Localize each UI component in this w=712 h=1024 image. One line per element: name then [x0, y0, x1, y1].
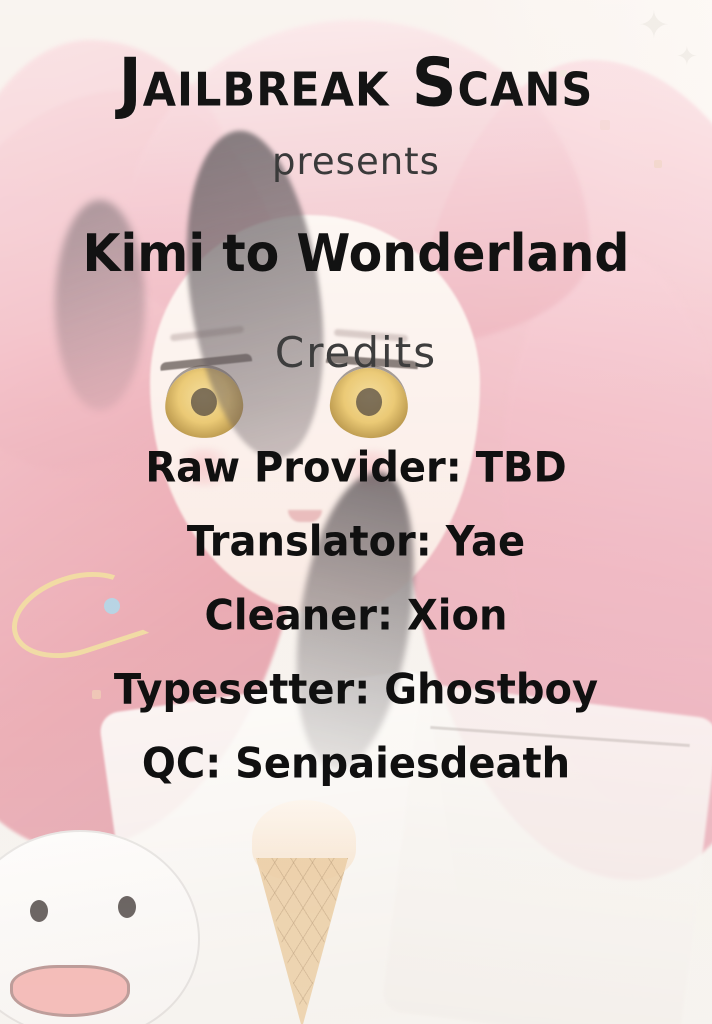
group-header: Jailbreak Scans presents Kimi to Wonderl…	[0, 0, 712, 377]
credit-line-translator: Translator: Yae	[187, 518, 525, 566]
credit-line-cleaner: Cleaner: Xion	[205, 592, 508, 640]
credit-line-raw-provider: Raw Provider: TBD	[145, 444, 566, 492]
credit-line-typesetter: Typesetter: Ghostboy	[114, 666, 598, 714]
credit-line-qc: QC: Senpaiesdeath	[142, 740, 570, 788]
credits-page: ✦ ✦ Jailbreak Scans presents Kimi to Won…	[0, 0, 712, 1024]
presents-label: presents	[0, 140, 712, 183]
credits-overlay: Jailbreak Scans presents Kimi to Wonderl…	[0, 0, 712, 1024]
credits-list: Raw Provider: TBD Translator: Yae Cleane…	[0, 445, 712, 787]
series-title: Kimi to Wonderland	[0, 223, 712, 283]
scan-group-title: Jailbreak Scans	[0, 50, 712, 117]
credits-heading: Credits	[0, 328, 712, 377]
